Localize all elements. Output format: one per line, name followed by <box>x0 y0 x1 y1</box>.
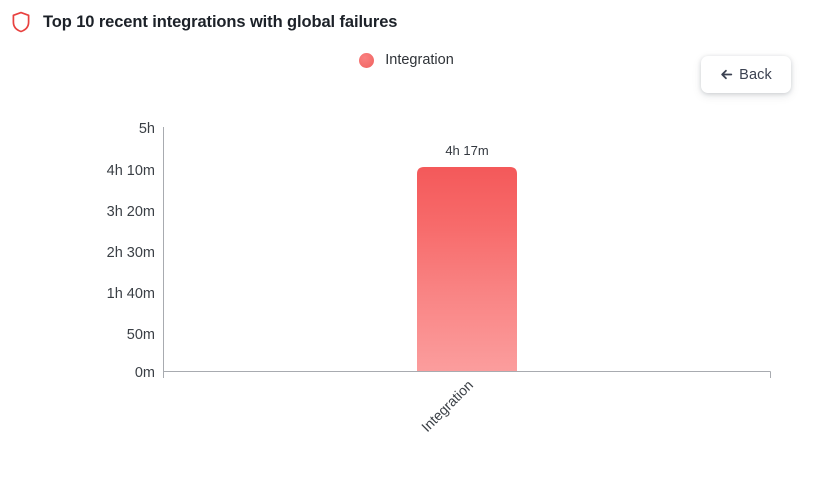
bar-value-label: 4h 17m <box>445 143 488 158</box>
y-axis-tick-labels: 5h 4h 10m 3h 20m 2h 30m 1h 40m 50m 0m <box>107 121 155 381</box>
y-tick-label: 1h 40m <box>107 286 155 302</box>
chart-canvas: 5h 4h 10m 3h 20m 2h 30m 1h 40m 50m 0m 4h… <box>0 0 813 483</box>
y-tick-label: 4h 10m <box>107 163 155 179</box>
bar-integration[interactable] <box>417 167 517 371</box>
y-tick-label: 3h 20m <box>107 204 155 220</box>
y-tick-label: 0m <box>135 365 155 381</box>
y-tick-label: 5h <box>139 121 155 137</box>
y-tick-label: 2h 30m <box>107 245 155 261</box>
y-tick-label: 50m <box>127 327 155 343</box>
x-tick-label-integration: Integration <box>418 377 476 435</box>
bar-chart: 5h 4h 10m 3h 20m 2h 30m 1h 40m 50m 0m 4h… <box>0 0 813 483</box>
